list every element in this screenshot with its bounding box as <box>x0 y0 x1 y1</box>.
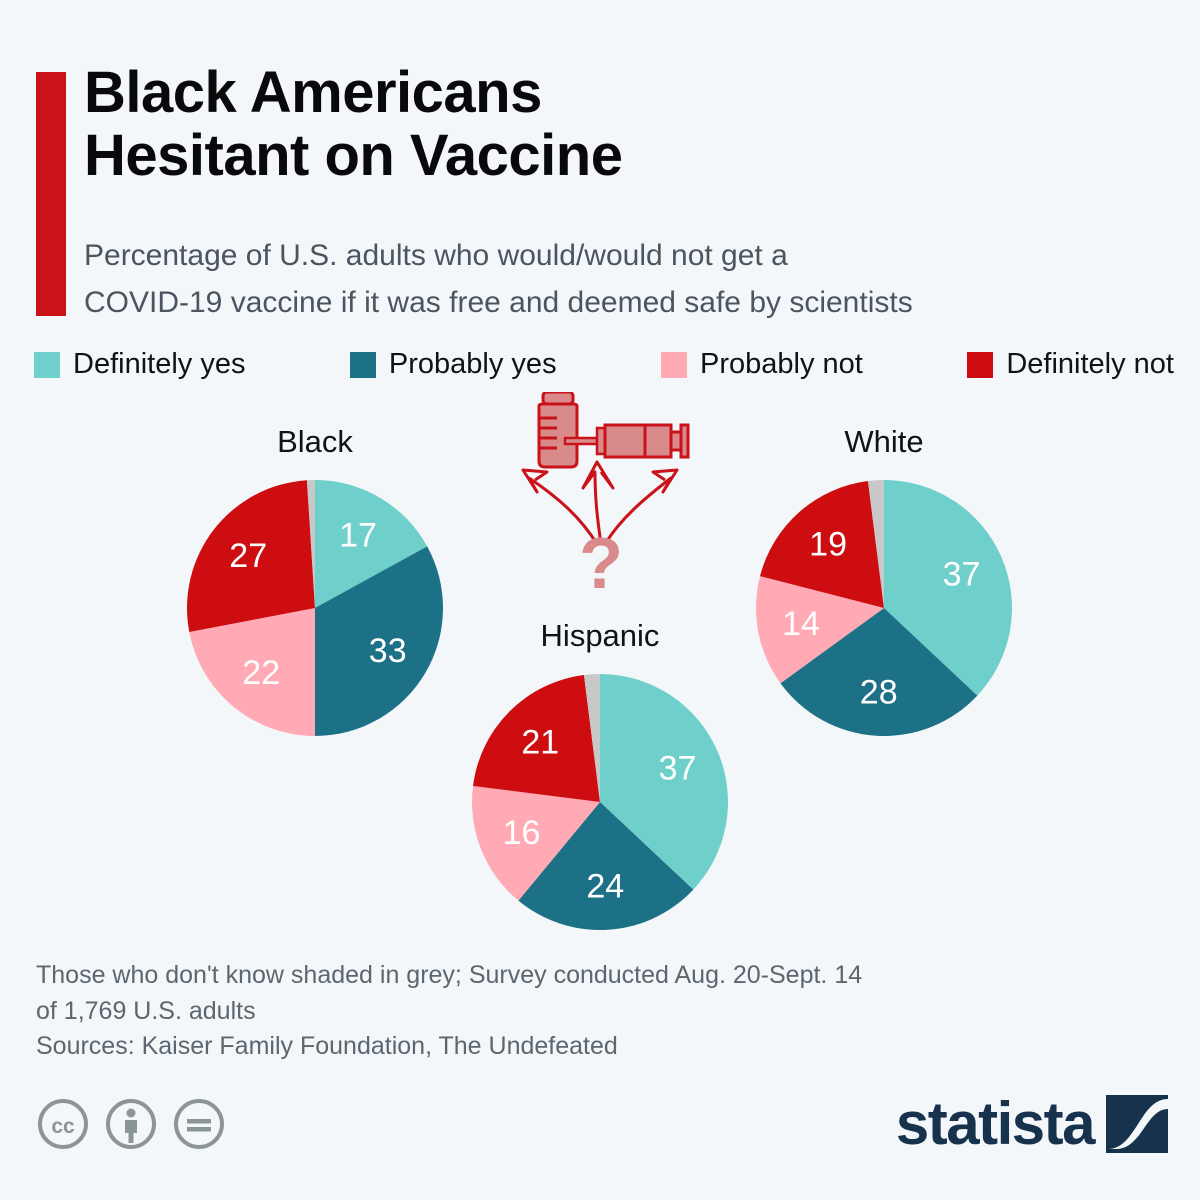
legend-item-probably-not[interactable]: Probably not <box>661 348 863 381</box>
page-subtitle-line-1: Percentage of U.S. adults who would/woul… <box>84 232 1184 279</box>
footnote-line-2: of 1,769 U.S. adults <box>36 994 1096 1030</box>
legend-swatch-definitely-yes <box>34 352 60 378</box>
pie-slice-value-label: 19 <box>809 526 847 564</box>
infographic-root: Black Americans Hesitant on Vaccine Perc… <box>0 0 1200 1200</box>
statista-wordmark: statista <box>896 1094 1094 1154</box>
vaccine-vial-syringe-question-icon: ? <box>505 392 705 614</box>
footnote: Those who don't know shaded in grey; Sur… <box>36 958 1096 1029</box>
legend-swatch-definitely-not <box>967 352 993 378</box>
legend-label-definitely-yes: Definitely yes <box>73 348 245 381</box>
legend-item-definitely-not[interactable]: Definitely not <box>967 348 1174 381</box>
pie-slice-value-label: 22 <box>242 654 280 692</box>
statista-mark-icon <box>1106 1095 1168 1153</box>
page-subtitle: Percentage of U.S. adults who would/woul… <box>84 232 1184 327</box>
pie-slice-value-label: 24 <box>586 867 624 905</box>
pie-slice-value-label: 14 <box>782 605 820 643</box>
pie-title-hispanic: Hispanic <box>460 618 740 654</box>
pie-slice-value-label: 28 <box>860 673 898 711</box>
pie-slice-value-label: 27 <box>229 537 267 575</box>
chart-legend: Definitely yes Probably yes Probably not… <box>34 348 1174 381</box>
pie-svg-black: 17332227 <box>175 468 455 748</box>
question-mark-icon: ? <box>579 524 623 604</box>
page-title-line-2: Hesitant on Vaccine <box>84 125 1174 188</box>
cc-icon[interactable]: cc <box>36 1097 90 1151</box>
legend-swatch-probably-not <box>661 352 687 378</box>
statista-logo[interactable]: statista <box>896 1094 1168 1154</box>
pie-title-white: White <box>744 424 1024 460</box>
legend-item-definitely-yes[interactable]: Definitely yes <box>34 348 245 381</box>
svg-text:?: ? <box>579 524 623 604</box>
pie-svg-hispanic: 37241621 <box>460 662 740 942</box>
page-title: Black Americans Hesitant on Vaccine <box>84 62 1174 187</box>
pie-slice-value-label: 21 <box>521 723 559 761</box>
pie-slice-value-label: 17 <box>339 516 377 554</box>
no-derivatives-equals-icon[interactable] <box>172 1097 226 1151</box>
legend-item-probably-yes[interactable]: Probably yes <box>350 348 557 381</box>
pie-svg-white: 37281419 <box>744 468 1024 748</box>
legend-swatch-probably-yes <box>350 352 376 378</box>
pie-slice-value-label: 16 <box>503 814 541 852</box>
creative-commons-icons: cc <box>36 1097 226 1151</box>
attribution-person-icon[interactable] <box>104 1097 158 1151</box>
legend-label-definitely-not: Definitely not <box>1006 348 1174 381</box>
pie-title-black: Black <box>175 424 455 460</box>
legend-label-probably-yes: Probably yes <box>389 348 557 381</box>
sources-line: Sources: Kaiser Family Foundation, The U… <box>36 1032 1096 1061</box>
syringe-icon <box>565 425 688 457</box>
page-title-line-1: Black Americans <box>84 62 1174 125</box>
pie-slice-value-label: 37 <box>943 555 981 593</box>
vaccine-vial-icon <box>539 392 577 467</box>
legend-label-probably-not: Probably not <box>700 348 863 381</box>
pie-chart-hispanic: Hispanic 37241621 <box>460 618 740 938</box>
pie-slice-value-label: 37 <box>659 749 697 787</box>
pie-chart-white: White 37281419 <box>744 424 1024 744</box>
pie-chart-black: Black 17332227 <box>175 424 455 744</box>
footnote-line-1: Those who don't know shaded in grey; Sur… <box>36 958 1096 994</box>
svg-text:cc: cc <box>51 1115 75 1138</box>
page-subtitle-line-2: COVID-19 vaccine if it was free and deem… <box>84 279 1184 326</box>
accent-bar <box>36 72 66 316</box>
pie-slice-value-label: 33 <box>369 632 407 670</box>
